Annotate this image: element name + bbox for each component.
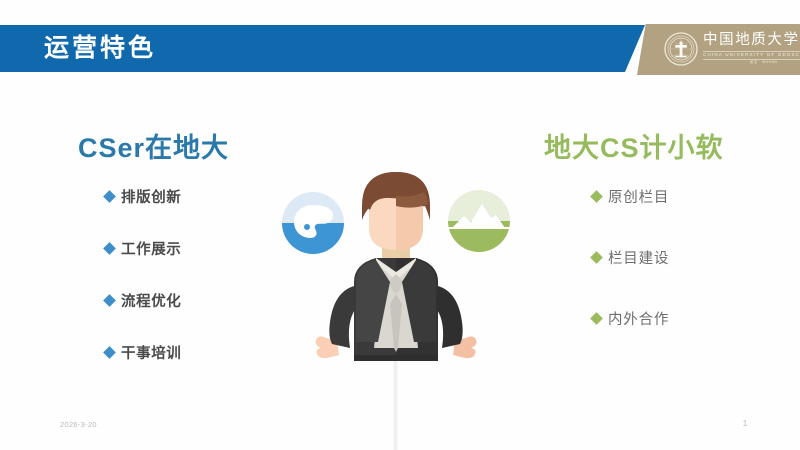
list-item[interactable]: 栏目建设 [592,247,760,268]
list-item[interactable]: 工作展示 [105,238,273,259]
diamond-bullet-icon [590,251,603,264]
list-item[interactable]: 排版创新 [105,186,273,207]
university-campus: 武汉 · WUHAN [703,61,800,64]
left-column-heading: CSer在地大 [58,130,273,166]
diamond-bullet-icon [103,190,116,203]
university-logo: 中国地质大学 CHINA UNIVERSITY OF GEOSCIENCES 武… [664,26,796,72]
university-seal-icon [664,32,698,66]
right-column: 地大CS计小软 原创栏目 栏目建设 内外合作 [530,130,760,369]
university-name-cn: 中国地质大学 [703,33,800,48]
page-title: 运营特色 [44,30,156,66]
list-item-label: 原创栏目 [608,186,669,207]
diamond-bullet-icon [103,294,116,307]
list-item-label: 工作展示 [121,238,181,259]
slide-canvas: 运营特色 中国地质大学 CHINA UNIVERSITY OF GEOSCIEN… [0,0,800,450]
diamond-bullet-icon [103,346,116,359]
university-name-en: CHINA UNIVERSITY OF GEOSCIENCES [703,51,800,60]
page-number: 1 [735,418,755,428]
left-column: CSer在地大 排版创新 工作展示 流程优化 干事培训 [58,130,273,394]
list-item-label: 内外合作 [608,308,669,329]
list-item-label: 流程优化 [121,290,181,311]
diamond-bullet-icon [103,242,116,255]
list-item-label: 干事培训 [121,342,181,363]
university-logo-text: 中国地质大学 CHINA UNIVERSITY OF GEOSCIENCES 武… [703,33,800,65]
diamond-bullet-icon [590,190,603,203]
businessman-presenting-illustration [270,150,522,450]
list-item[interactable]: 内外合作 [592,308,760,329]
footer-date: 2026-3-20 [60,420,97,429]
palette-icon [282,192,344,254]
right-column-heading: 地大CS计小软 [530,130,760,166]
list-item-label: 栏目建设 [608,247,669,268]
diamond-bullet-icon [590,312,603,325]
list-item[interactable]: 流程优化 [105,290,273,311]
list-item[interactable]: 原创栏目 [592,186,760,207]
mountain-chart-icon [448,190,510,252]
left-column-bullet-list: 排版创新 工作展示 流程优化 干事培训 [58,186,273,363]
right-column-bullet-list: 原创栏目 栏目建设 内外合作 [530,186,760,329]
list-item[interactable]: 干事培训 [105,342,273,363]
list-item-label: 排版创新 [121,186,181,207]
